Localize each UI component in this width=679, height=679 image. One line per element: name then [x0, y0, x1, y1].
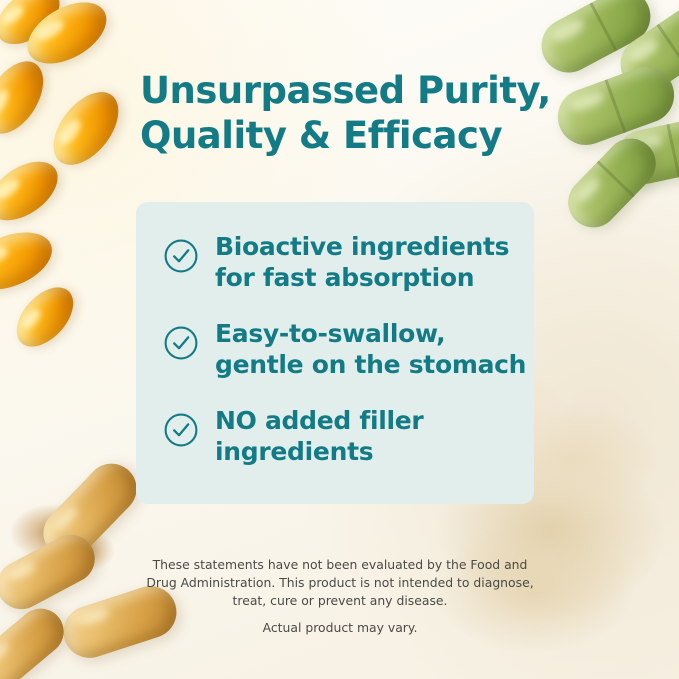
disclaimer-line-2: Drug Administration. This product is not…: [120, 574, 560, 592]
product-infographic: Unsurpassed Purity, Quality & Efficacy B…: [0, 0, 679, 679]
headline-line-1: Unsurpassed Purity,: [140, 68, 560, 113]
benefits-list: Bioactive ingredients for fast absorptio…: [164, 232, 536, 467]
check-circle-icon: [164, 239, 198, 273]
list-item: Easy-to-swallow, gentle on the stomach: [164, 319, 536, 380]
benefit-text: NO added filler ingredients: [215, 406, 423, 467]
check-circle-icon: [164, 413, 198, 447]
page-title: Unsurpassed Purity, Quality & Efficacy: [140, 68, 560, 158]
disclaimer-line-1: These statements have not been evaluated…: [120, 556, 560, 574]
list-item: NO added filler ingredients: [164, 406, 536, 467]
benefit-3-line-1: NO added filler: [215, 406, 423, 435]
actual-product-note: Actual product may vary.: [120, 620, 560, 635]
benefit-1-line-1: Bioactive ingredients: [215, 232, 509, 261]
benefit-text: Easy-to-swallow, gentle on the stomach: [215, 319, 526, 380]
benefit-2-line-2: gentle on the stomach: [215, 350, 526, 379]
benefit-text: Bioactive ingredients for fast absorptio…: [215, 232, 509, 293]
benefit-1-line-2: for fast absorption: [215, 263, 474, 292]
benefit-3-line-2: ingredients: [215, 437, 373, 466]
headline-line-2: Quality & Efficacy: [140, 113, 560, 158]
list-item: Bioactive ingredients for fast absorptio…: [164, 232, 536, 293]
check-circle-icon: [164, 326, 198, 360]
fda-disclaimer: These statements have not been evaluated…: [120, 556, 560, 610]
benefit-2-line-1: Easy-to-swallow,: [215, 319, 445, 348]
disclaimer-line-3: treat, cure or prevent any disease.: [120, 592, 560, 610]
